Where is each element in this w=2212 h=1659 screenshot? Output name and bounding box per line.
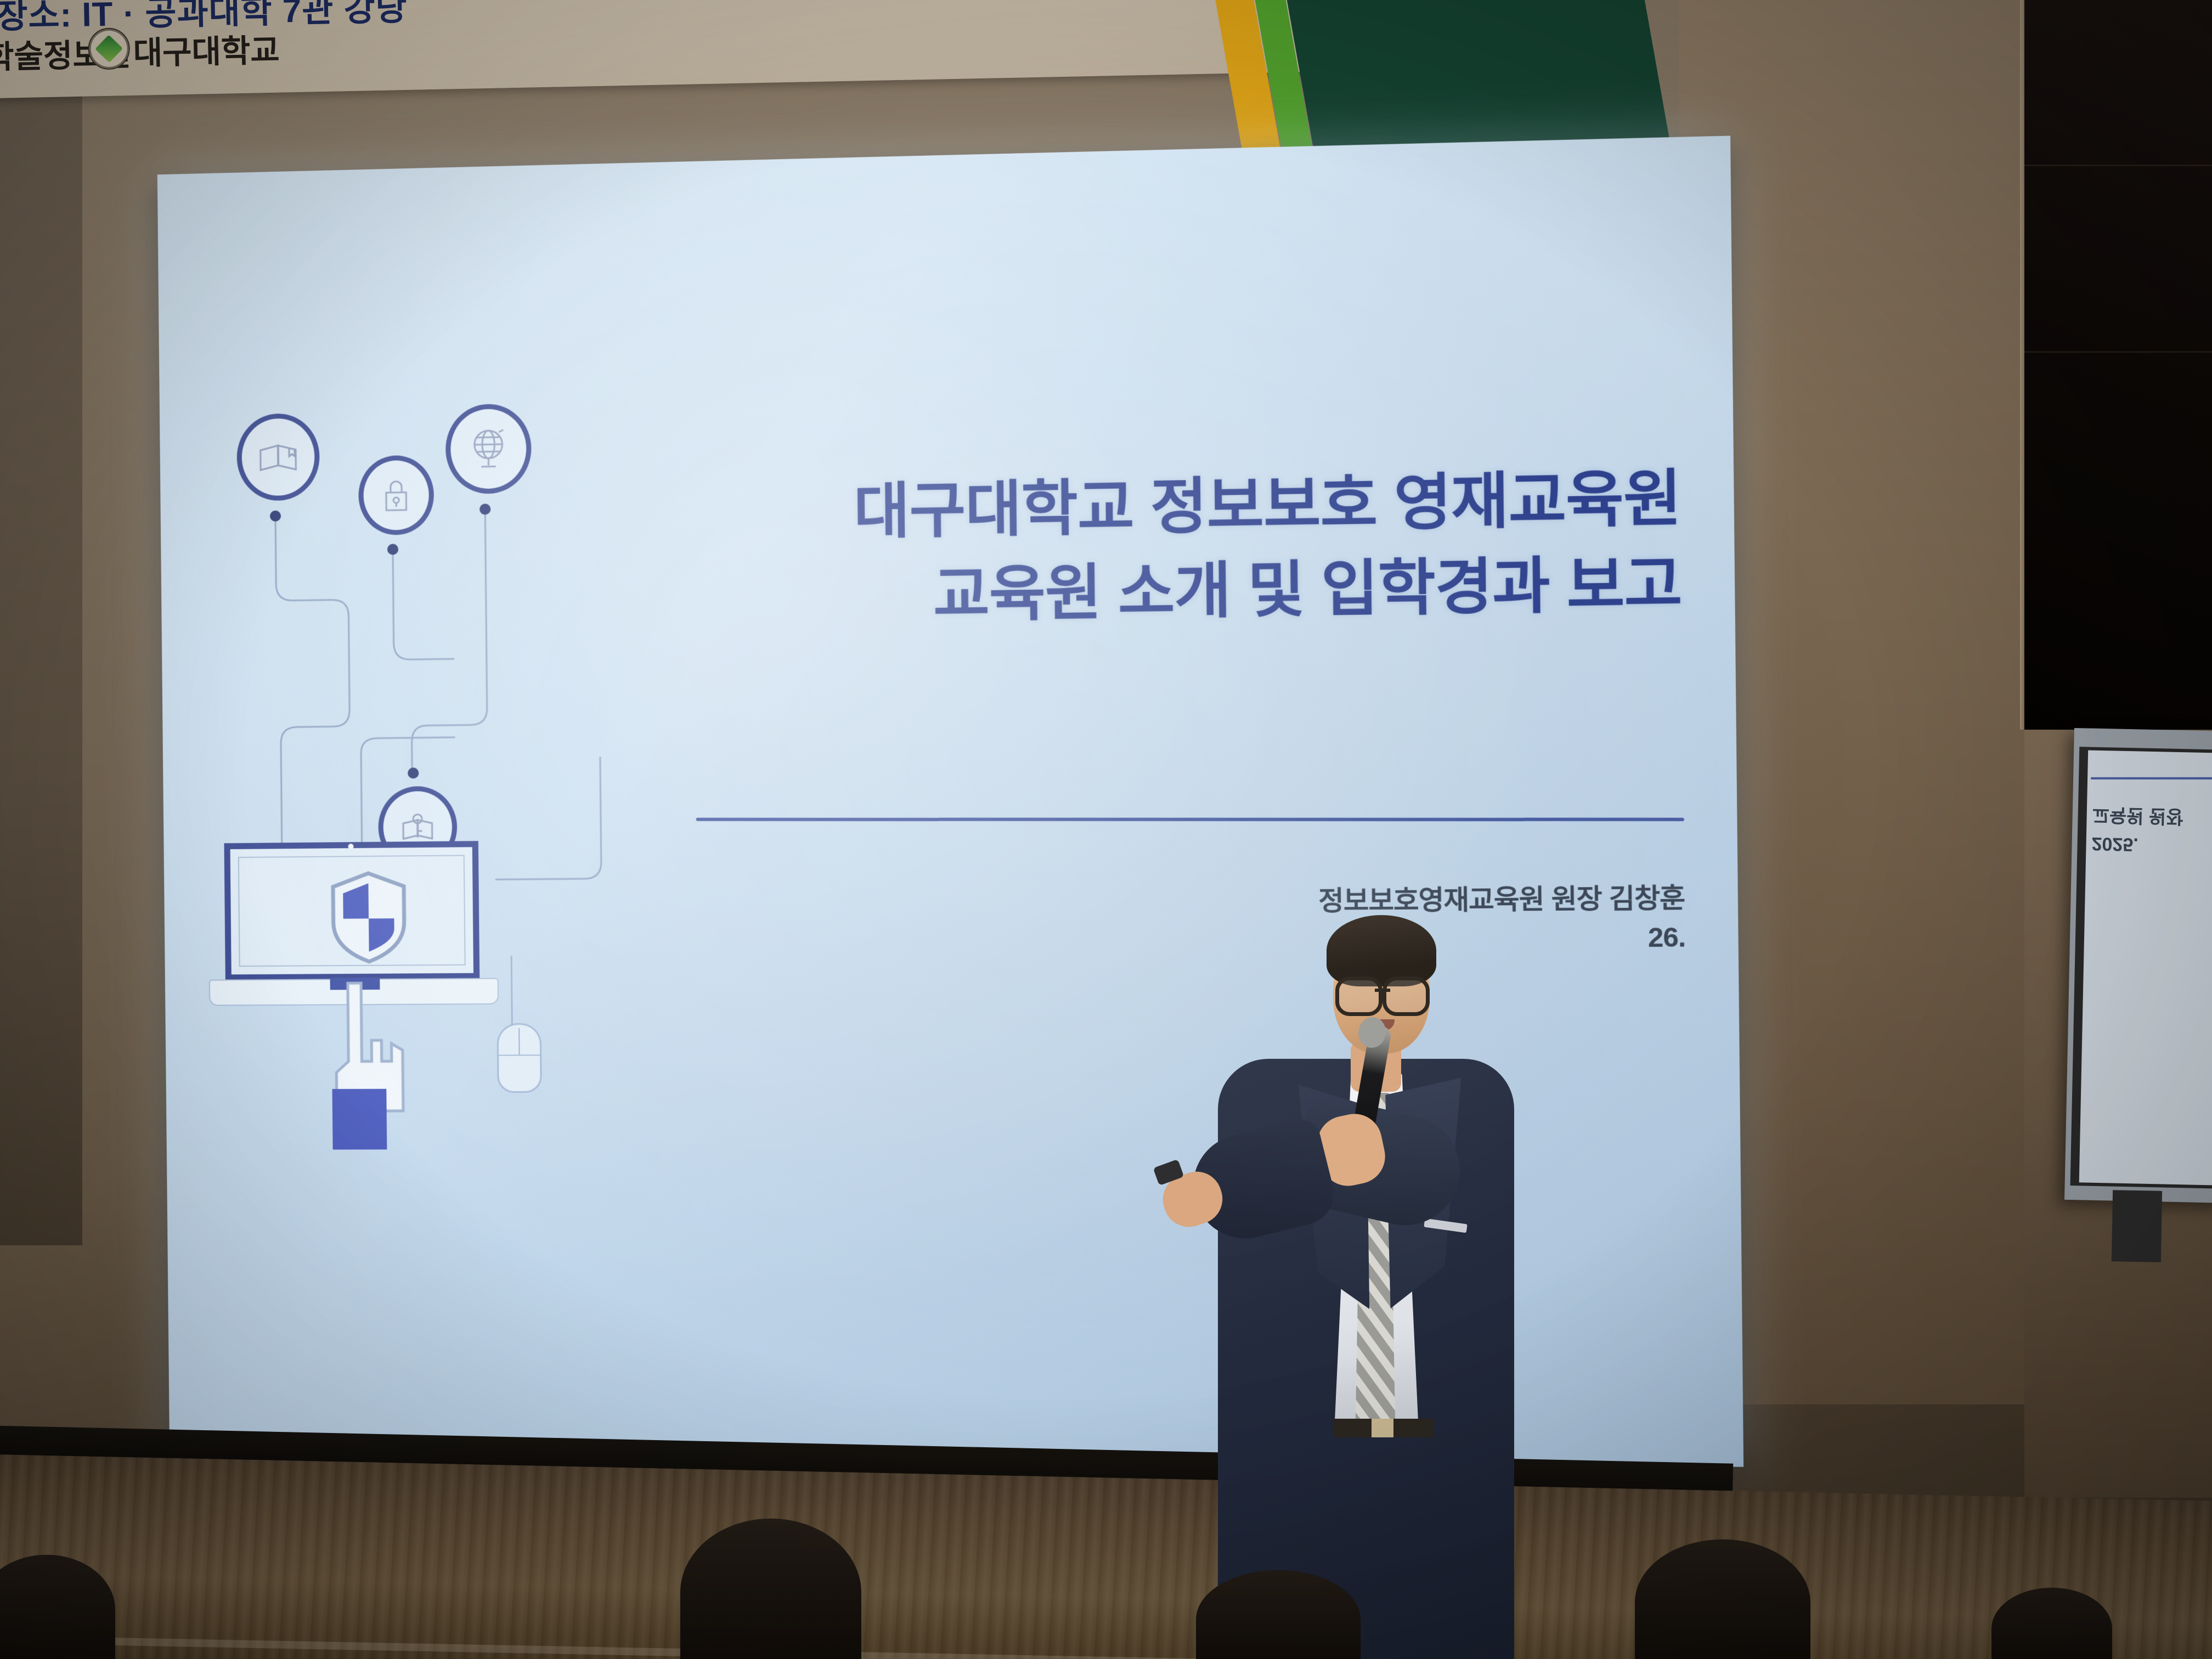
hand-sleeve-cuff — [332, 1089, 387, 1150]
monitor-panel: 교육원 원장 2025. — [2079, 750, 2212, 1186]
photo-scene: 장소: IT · 공과대학 7관 강당 육학술정보원 대구대학교 — [0, 0, 2212, 1659]
security-shield — [330, 871, 408, 964]
eyeglass-lens-left — [1335, 977, 1383, 1016]
banner-university-name: 대구대학교 — [133, 25, 280, 74]
eyeglass-bridge — [1375, 989, 1390, 992]
connector-dot — [408, 768, 419, 778]
dark-ceiling-alcove — [2024, 0, 2212, 730]
left-wall-panel — [0, 66, 82, 1245]
alcove-seam — [2024, 165, 2212, 166]
eyeglass-lens-right — [1383, 977, 1430, 1016]
monitor-mirrored-rule — [2091, 777, 2212, 780]
confidence-monitor: 교육원 원장 2025. — [2064, 728, 2212, 1203]
presenter — [1196, 900, 1536, 1659]
slide-graphic-group — [193, 395, 678, 1261]
slide-title-line-1: 대구대학교 정보보호 영재교육원 — [704, 455, 1681, 556]
slide-title-line-2: 교육원 소개 및 입학경과 보고 — [705, 541, 1683, 640]
monitor-mirrored-text-line-2: 2025. — [2091, 833, 2212, 857]
slide-title: 대구대학교 정보보호 영재교육원 교육원 소개 및 입학경과 보고 — [704, 455, 1682, 640]
computer-mouse — [496, 1023, 541, 1093]
alcove-seam — [2024, 351, 2212, 353]
laptop-camera-dot — [348, 844, 353, 849]
audience-head — [1635, 1539, 1810, 1659]
monitor-bezel: 교육원 원장 2025. — [2070, 747, 2212, 1189]
presenter-belt-buckle — [1372, 1419, 1393, 1437]
audience-head — [680, 1519, 861, 1659]
monitor-stand — [2112, 1190, 2162, 1262]
presenter-eyeglasses — [1335, 977, 1430, 1009]
slide-title-underline — [696, 818, 1684, 821]
mouse-scroll-line — [518, 1028, 520, 1054]
mouse-button-divider — [499, 1054, 540, 1056]
presenter-hair — [1327, 915, 1436, 986]
monitor-mirrored-text-line-1: 교육원 원장 — [2092, 803, 2212, 833]
laptop-screen — [224, 841, 479, 981]
